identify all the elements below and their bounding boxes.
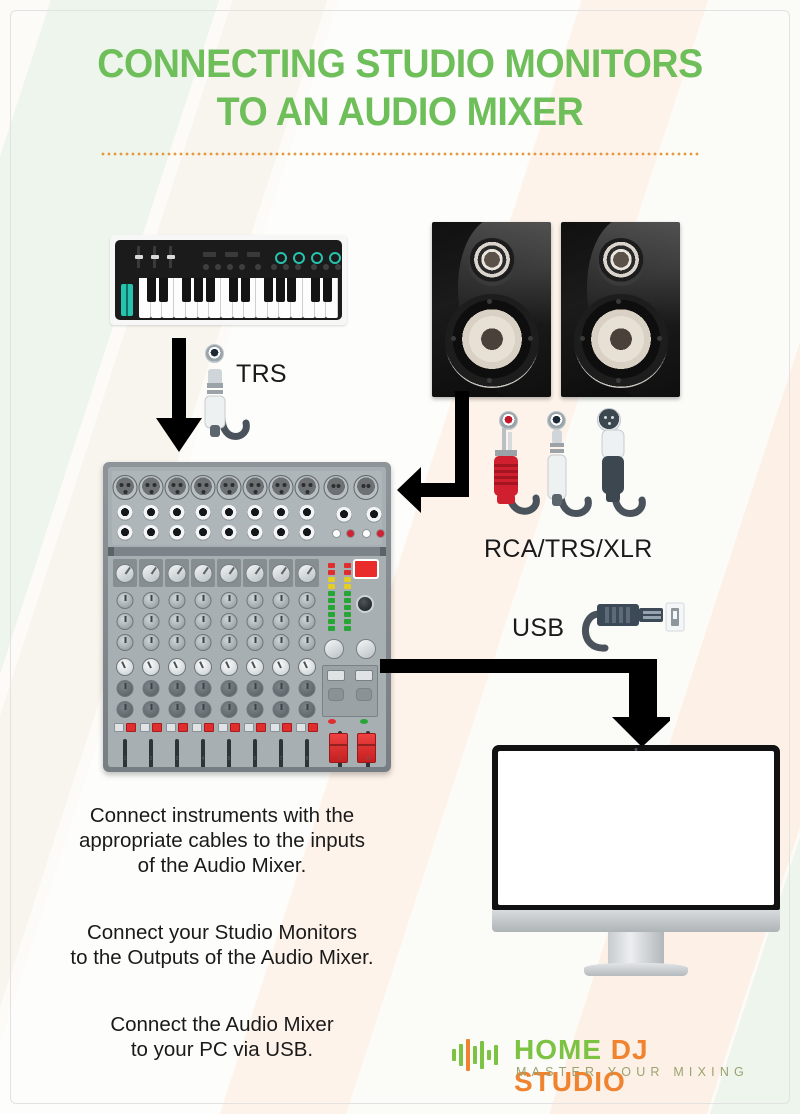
instruction-paragraph-3: Connect the Audio Mixer to your PC via U… — [22, 1012, 422, 1062]
screen-display — [498, 751, 774, 905]
waveform-icon — [452, 1038, 498, 1072]
mixer-master-section: L R — [322, 559, 382, 763]
phones-knob — [356, 595, 374, 613]
trs-label: TRS — [236, 360, 287, 389]
instruction-2-line-2: to the Outputs of the Audio Mixer. — [22, 945, 422, 970]
mixer-channel: 5 — [217, 559, 241, 763]
usb-port-icon — [664, 602, 686, 637]
logo-word-home: HOME — [514, 1034, 602, 1065]
instruction-1-line-3: of the Audio Mixer. — [22, 853, 422, 878]
rca-trs-xlr-label: RCA/TRS/XLR — [484, 535, 653, 564]
studio-monitor-left — [432, 222, 551, 397]
trs-port-icon — [205, 344, 224, 363]
computer-stand-base — [584, 963, 688, 976]
webcam-icon — [635, 748, 638, 751]
computer-chin — [492, 910, 780, 932]
title-line-1: CONNECTING STUDIO MONITORS — [24, 40, 776, 88]
mixer-output-section — [320, 471, 382, 545]
instruction-2-line-1: Connect your Studio Monitors — [22, 920, 422, 945]
piano-keys — [139, 278, 338, 318]
instruction-3-line-1: Connect the Audio Mixer — [22, 1012, 422, 1037]
woofer-driver — [445, 294, 539, 388]
led-meter-left — [328, 563, 335, 631]
usb-label: USB — [512, 614, 564, 643]
instruction-1-line-1: Connect instruments with the — [22, 803, 422, 828]
computer-screen — [492, 745, 780, 910]
mixer-channel: 2 — [139, 559, 163, 763]
instruction-paragraph-2: Connect your Studio Monitors to the Outp… — [22, 920, 422, 970]
brand-logo[interactable]: HOME DJ STUDIO MASTER YOUR MIXING — [452, 1032, 768, 1088]
arrow-monitors-to-mixer-icon — [393, 391, 473, 523]
xlr-cable-icon — [586, 428, 650, 533]
page-title: CONNECTING STUDIO MONITORS TO AN AUDIO M… — [0, 40, 800, 136]
mixer-channel: 3 — [165, 559, 189, 763]
infographic-poster: CONNECTING STUDIO MONITORS TO AN AUDIO M… — [0, 0, 800, 1114]
title-divider — [100, 152, 700, 156]
instruction-paragraph-1: Connect instruments with the appropriate… — [22, 803, 422, 878]
pitch-wheel — [121, 284, 133, 316]
mixer-power-button — [353, 559, 379, 579]
mixer-channel: 4 — [191, 559, 215, 763]
studio-monitor-right — [561, 222, 680, 397]
instruction-1-line-2: appropriate cables to the inputs — [22, 828, 422, 853]
audio-mixer: 1 2 — [103, 462, 391, 772]
master-knob — [324, 639, 344, 659]
mixer-channel: 8 — [295, 559, 319, 763]
mixer-input-panel — [112, 471, 382, 545]
mixer-divider — [108, 547, 386, 556]
title-line-2: TO AN AUDIO MIXER — [24, 88, 776, 136]
computer-stand-neck — [608, 932, 664, 966]
mixer-channel: 7 — [269, 559, 293, 763]
fx-panel — [322, 665, 378, 717]
arrow-mixer-to-pc-icon — [380, 659, 670, 749]
midi-keyboard-controller — [110, 235, 347, 325]
studio-monitor-speakers — [432, 222, 680, 397]
mixer-channel-strips: 1 2 — [112, 559, 320, 763]
tweeter-driver — [468, 238, 516, 286]
mixer-channel: 6 — [243, 559, 267, 763]
tweeter-driver — [597, 238, 645, 286]
desktop-computer — [492, 745, 780, 981]
led-meter-right — [344, 563, 351, 631]
woofer-driver — [574, 294, 668, 388]
instruction-3-line-2: to your PC via USB. — [22, 1037, 422, 1062]
logo-tagline: MASTER YOUR MIXING — [516, 1065, 749, 1079]
aux-knob — [356, 639, 376, 659]
mixer-channel: 1 — [113, 559, 137, 763]
